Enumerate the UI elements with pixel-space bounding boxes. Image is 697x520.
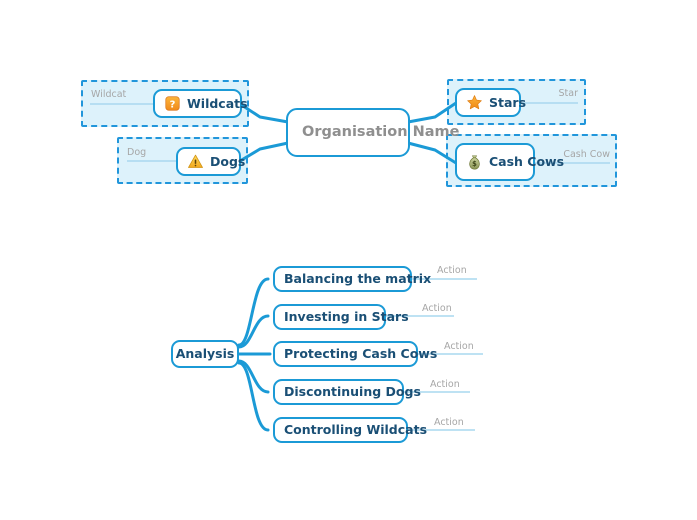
node-analysis[interactable]: Analysis	[171, 340, 239, 368]
node-label-dogs: Dogs	[210, 155, 245, 169]
svg-text:$: $	[472, 159, 477, 167]
node-label-controlling-wildcats: Controlling Wildcats	[284, 423, 427, 437]
connector-analysis-balancing	[239, 279, 268, 345]
node-label-discontinuing-dogs: Discontinuing Dogs	[284, 385, 421, 399]
node-balancing-the-matrix[interactable]: Balancing the matrix	[273, 266, 412, 292]
property-label-action-2: Action	[422, 303, 452, 314]
connector-analysis-investing	[239, 316, 268, 347]
property-label-wildcat: Wildcat	[91, 89, 126, 100]
node-dogs[interactable]: Dogs	[176, 147, 241, 176]
node-label-analysis: Analysis	[176, 347, 235, 361]
connector-analysis-controlling	[239, 363, 268, 430]
node-discontinuing-dogs[interactable]: Discontinuing Dogs	[273, 379, 404, 405]
property-label-action-5: Action	[434, 417, 464, 428]
property-label-cash-cow: Cash Cow	[520, 149, 610, 160]
star-icon	[466, 94, 483, 111]
node-center-organisation[interactable]: Organisation Name	[286, 108, 410, 157]
property-label-star: Star	[498, 88, 578, 99]
node-label-wildcats: Wildcats	[187, 97, 248, 111]
node-label-investing-in-stars: Investing in Stars	[284, 310, 409, 324]
node-label-organisation: Organisation Name	[302, 124, 459, 142]
node-label-protecting-cash-cows: Protecting Cash Cows	[284, 347, 437, 361]
property-label-action-4: Action	[430, 379, 460, 390]
node-investing-in-stars[interactable]: Investing in Stars	[273, 304, 386, 330]
node-controlling-wildcats[interactable]: Controlling Wildcats	[273, 417, 408, 443]
warning-triangle-icon	[187, 153, 204, 170]
property-label-action-3: Action	[444, 341, 474, 352]
node-wildcats[interactable]: ? Wildcats	[153, 89, 242, 118]
mindmap-canvas: ? Wildcats Dogs Organisation Name	[0, 0, 697, 520]
node-label-balancing-the-matrix: Balancing the matrix	[284, 272, 431, 286]
property-label-action-1: Action	[437, 265, 467, 276]
question-mark-icon: ?	[164, 95, 181, 112]
property-label-dog: Dog	[127, 147, 146, 158]
svg-text:?: ?	[170, 99, 176, 110]
connector-analysis-discontinuing	[239, 361, 268, 392]
node-protecting-cash-cows[interactable]: Protecting Cash Cows	[273, 341, 418, 367]
money-bag-icon: $	[466, 154, 483, 171]
